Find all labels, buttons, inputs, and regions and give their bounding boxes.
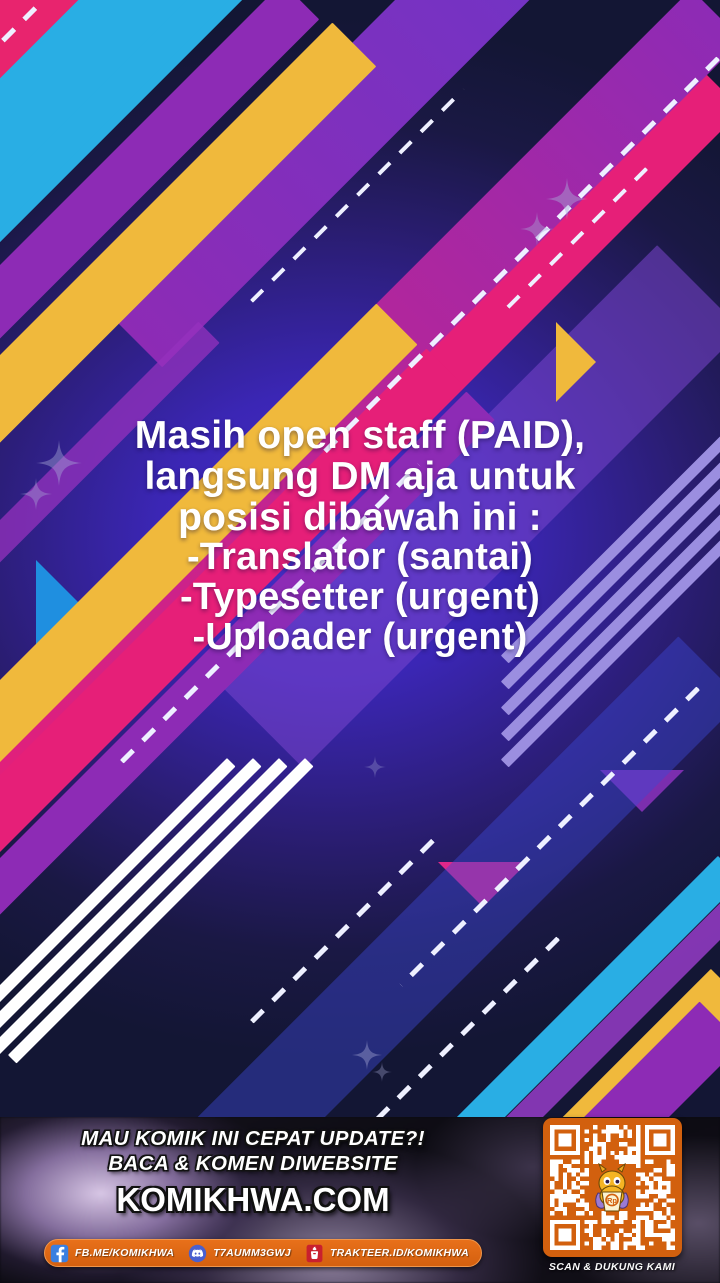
headline-line-2: langsung DM aja untuk	[0, 457, 720, 498]
sparkle-icon	[520, 212, 554, 246]
social-label-discord: T7AUMM3GWJ	[213, 1247, 291, 1259]
qr-code-card[interactable]: Rp	[543, 1118, 682, 1257]
sparkle-icon	[372, 1062, 392, 1082]
social-label-facebook: FB.ME/KOMIKHWA	[75, 1247, 174, 1259]
headline-line-1: Masih open staff (PAID),	[0, 416, 720, 457]
trakteer-icon	[305, 1244, 324, 1263]
discord-icon	[188, 1244, 207, 1263]
facebook-icon	[50, 1244, 69, 1263]
mascot-icon: Rp	[589, 1163, 635, 1215]
social-link-facebook[interactable]: FB.ME/KOMIKHWA	[50, 1244, 174, 1263]
footer-promo-text: MAU KOMIK INI CEPAT UPDATE?! BACA & KOME…	[18, 1127, 488, 1220]
qr-caption: SCAN & DUKUNG KAMI	[521, 1261, 703, 1273]
svg-text:Rp: Rp	[607, 1196, 617, 1205]
headline-block: Masih open staff (PAID), langsung DM aja…	[0, 416, 720, 657]
headline-line-3: posisi dibawah ini :	[0, 498, 720, 539]
qr-section: Rp SCAN & DUKUNG KAMI	[521, 1118, 703, 1273]
headline-line-4: -Translator (santai)	[0, 538, 720, 578]
headline-line-6: -Uploader (urgent)	[0, 618, 720, 658]
social-links-bar: FB.ME/KOMIKHWA T7AUMM3GWJ TRAKTEER.ID/KO…	[44, 1239, 482, 1267]
social-link-discord[interactable]: T7AUMM3GWJ	[188, 1244, 291, 1263]
headline-line-5: -Typesetter (urgent)	[0, 578, 720, 618]
social-label-trakteer: TRAKTEER.ID/KOMIKHWA	[330, 1247, 469, 1259]
footer-line-2: BACA & KOMEN DIWEBSITE	[18, 1152, 488, 1176]
poster-canvas: Masih open staff (PAID), langsung DM aja…	[0, 0, 720, 1117]
decorative-triangle	[556, 322, 596, 402]
footer-line-1: MAU KOMIK INI CEPAT UPDATE?!	[18, 1127, 488, 1151]
sparkle-icon	[364, 756, 386, 778]
social-link-trakteer[interactable]: TRAKTEER.ID/KOMIKHWA	[305, 1244, 469, 1263]
footer-website-url[interactable]: KOMIKHWA.COM	[18, 1181, 488, 1220]
